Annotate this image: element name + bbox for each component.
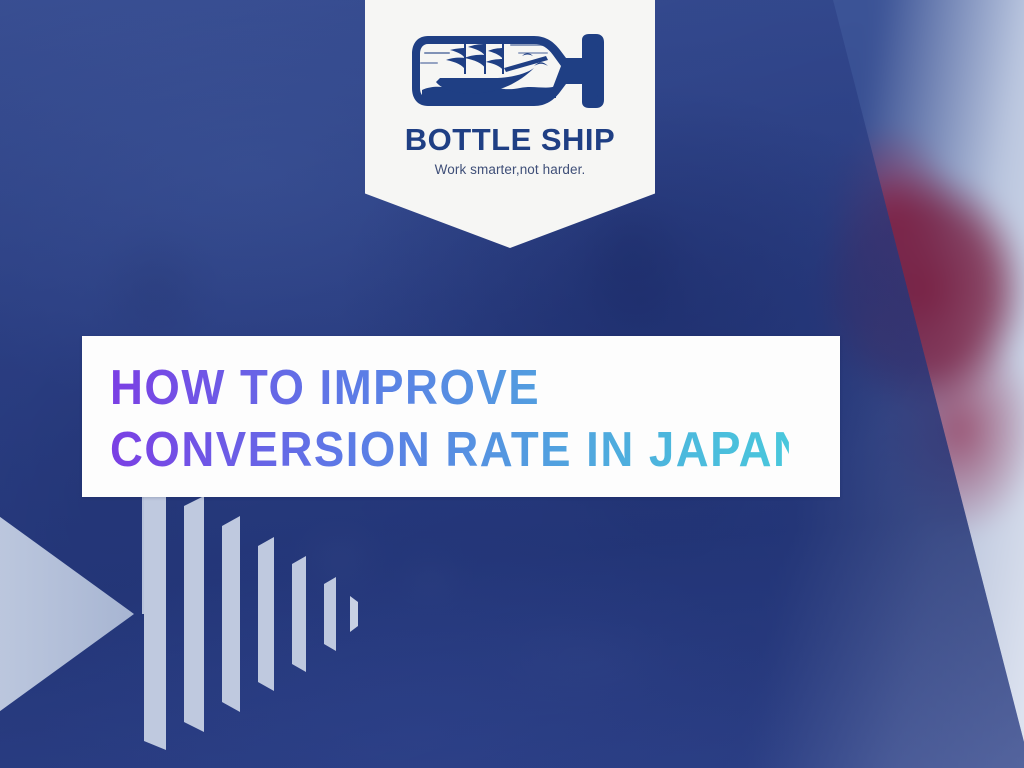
title-card: HOW TO IMPROVE CONVERSION RATE IN JAPAN [82,336,840,497]
title-line-1: HOW TO IMPROVE [110,357,789,419]
logo-wordmark: BOTTLE SHIP [405,124,615,155]
title-slide: BOTTLE SHIP Work smarter,not harder. HOW… [0,0,1024,768]
ship-in-a-bottle-icon [406,22,614,118]
logo-tagline: Work smarter,not harder. [435,162,586,177]
title-line-2: CONVERSION RATE IN JAPAN [110,419,789,481]
